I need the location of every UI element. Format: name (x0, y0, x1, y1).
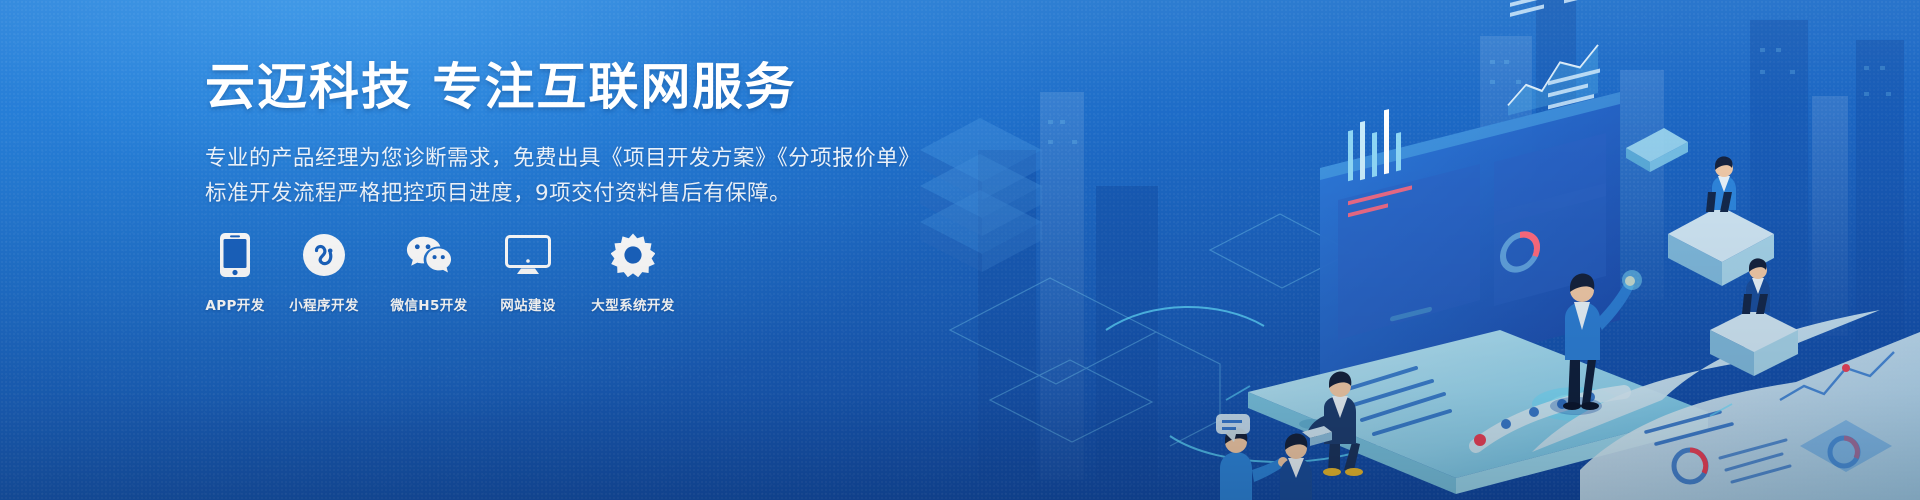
person-on-cube (1668, 156, 1774, 286)
service-item-app[interactable]: APP开发 (205, 232, 265, 314)
glow-path (1106, 307, 1520, 462)
service-item-mini-program[interactable]: 小程序开发 (281, 232, 367, 314)
screen-accent-bars (1348, 185, 1412, 217)
background-buildings (978, 0, 1904, 480)
hero-subtitle: 专业的产品经理为您诊断需求，免费出具《项目开发方案》《分项报价单》 标准开发流程… (205, 142, 965, 212)
report-sheet (1532, 310, 1920, 500)
person-on-pedestal (1710, 258, 1798, 376)
service-list: APP开发 小程序开发 (205, 232, 685, 314)
hero-banner: 云迈科技 专注互联网服务 专业的产品经理为您诊断需求，免费出具《项目开发方案》《… (0, 0, 1920, 500)
dashboard-screen (1320, 0, 1620, 400)
service-item-wechat-h5[interactable]: 微信H5开发 (383, 232, 475, 314)
page-title: 云迈科技 专注互联网服务 (205, 58, 965, 116)
wechat-icon (406, 232, 452, 278)
gear-icon (610, 232, 656, 278)
floating-card (1626, 128, 1688, 172)
phone-platform (1248, 306, 1708, 494)
screen-line-chart (1508, 45, 1598, 105)
mini-program-icon (301, 232, 347, 278)
subtitle-line-2: 标准开发流程严格把控项目进度，9项交付资料售后有保障。 (205, 177, 965, 212)
screen-text-lines (1510, 0, 1600, 109)
service-label: 大型系统开发 (591, 294, 674, 314)
person-presenter (1550, 270, 1642, 415)
sheet-donut (1674, 450, 1706, 482)
sheet-donut-2 (1830, 438, 1858, 466)
service-label: 小程序开发 (289, 294, 359, 314)
person-seated-laptop (1302, 372, 1363, 477)
service-label: 微信H5开发 (390, 294, 467, 314)
capsule-indicators (1474, 392, 1624, 446)
floating-tile-right (1800, 420, 1892, 472)
service-label: 网站建设 (500, 294, 556, 314)
platform-outline (1226, 386, 1732, 416)
subtitle-line-1: 专业的产品经理为您诊断需求，免费出具《项目开发方案》《分项报价单》 (205, 142, 965, 177)
mobile-phone-icon (212, 232, 258, 278)
isometric-tech-illustration (920, 0, 1920, 500)
hero-text-block: 云迈科技 专注互联网服务 专业的产品经理为您诊断需求，免费出具《项目开发方案》《… (205, 58, 965, 212)
person-pair-left (1216, 414, 1312, 500)
wireframe-grid (950, 214, 1352, 446)
monitor-icon (505, 232, 551, 278)
service-item-large-system[interactable]: 大型系统开发 (581, 232, 685, 314)
service-item-website[interactable]: 网站建设 (491, 232, 565, 314)
service-label: APP开发 (205, 294, 264, 314)
screen-donut-chart (1503, 231, 1537, 273)
screen-bar-chart (1348, 109, 1401, 181)
